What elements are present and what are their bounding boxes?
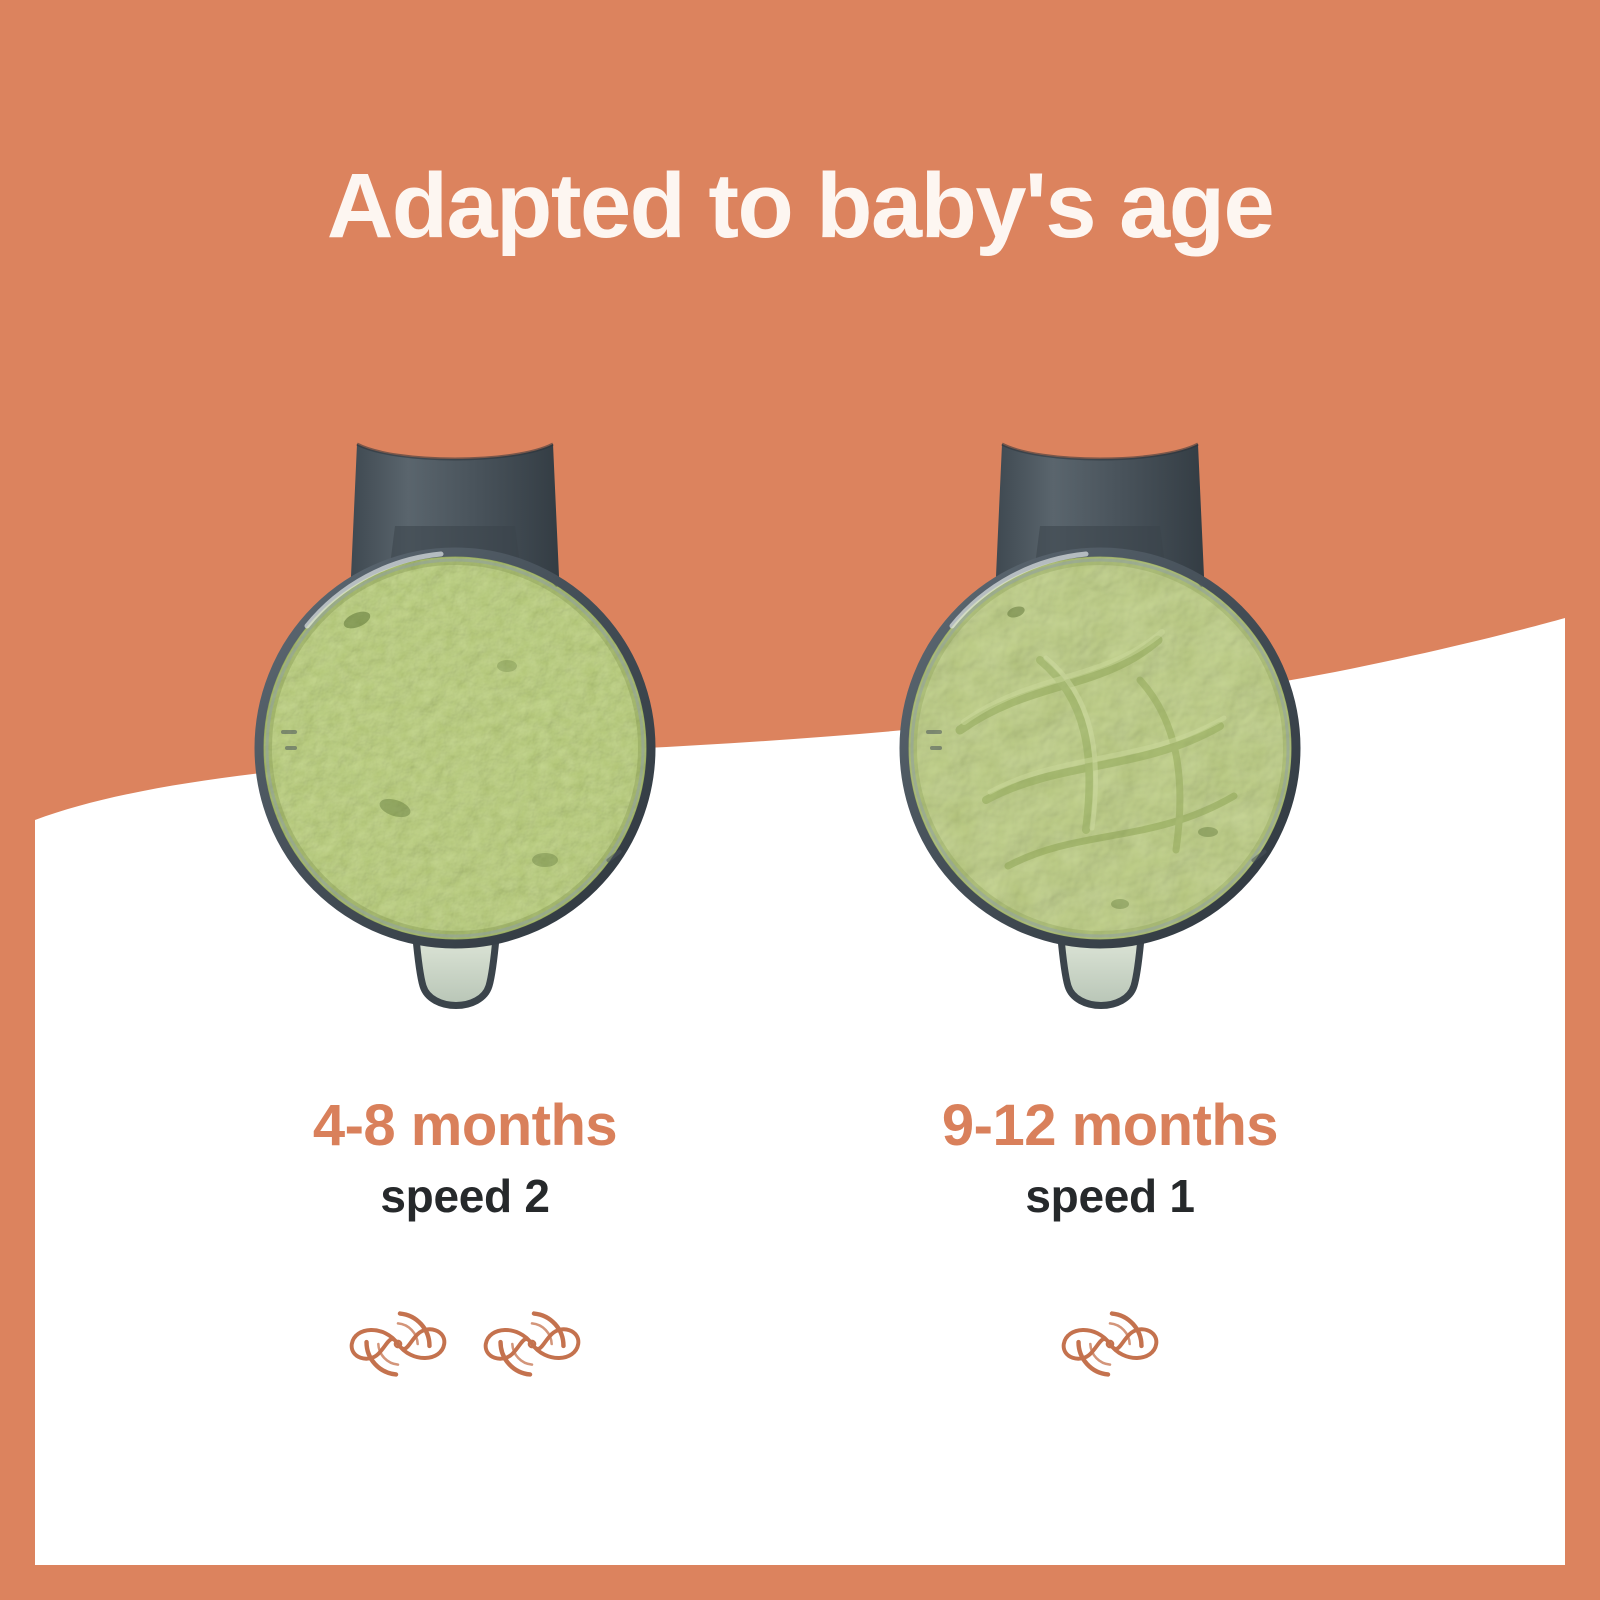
caption-right: 9-12 months speed 1: [800, 1095, 1420, 1223]
blade-speed-icon: [1051, 1285, 1169, 1403]
blender-bowl-icon: [245, 430, 665, 1050]
caption-left: 4-8 months speed 2: [155, 1095, 775, 1223]
age-range-label-left: 4-8 months: [155, 1095, 775, 1158]
blade-speed-indicator-right: [800, 1285, 1420, 1403]
promo-graphic: Adapted to baby's age: [0, 0, 1600, 1600]
product-image-right: [820, 430, 1380, 1050]
blender-bowl-icon: [890, 430, 1310, 1050]
product-image-left: [175, 430, 735, 1050]
age-range-label-right: 9-12 months: [800, 1095, 1420, 1158]
bowl-body: [253, 546, 657, 950]
blade-speed-indicator-left: [155, 1285, 775, 1403]
page-title: Adapted to baby's age: [0, 158, 1600, 255]
speed-label-left: speed 2: [155, 1170, 775, 1223]
bowl-body: [898, 546, 1302, 950]
blade-speed-icon: [473, 1285, 591, 1403]
speed-label-right: speed 1: [800, 1170, 1420, 1223]
blade-speed-icon: [339, 1285, 457, 1403]
